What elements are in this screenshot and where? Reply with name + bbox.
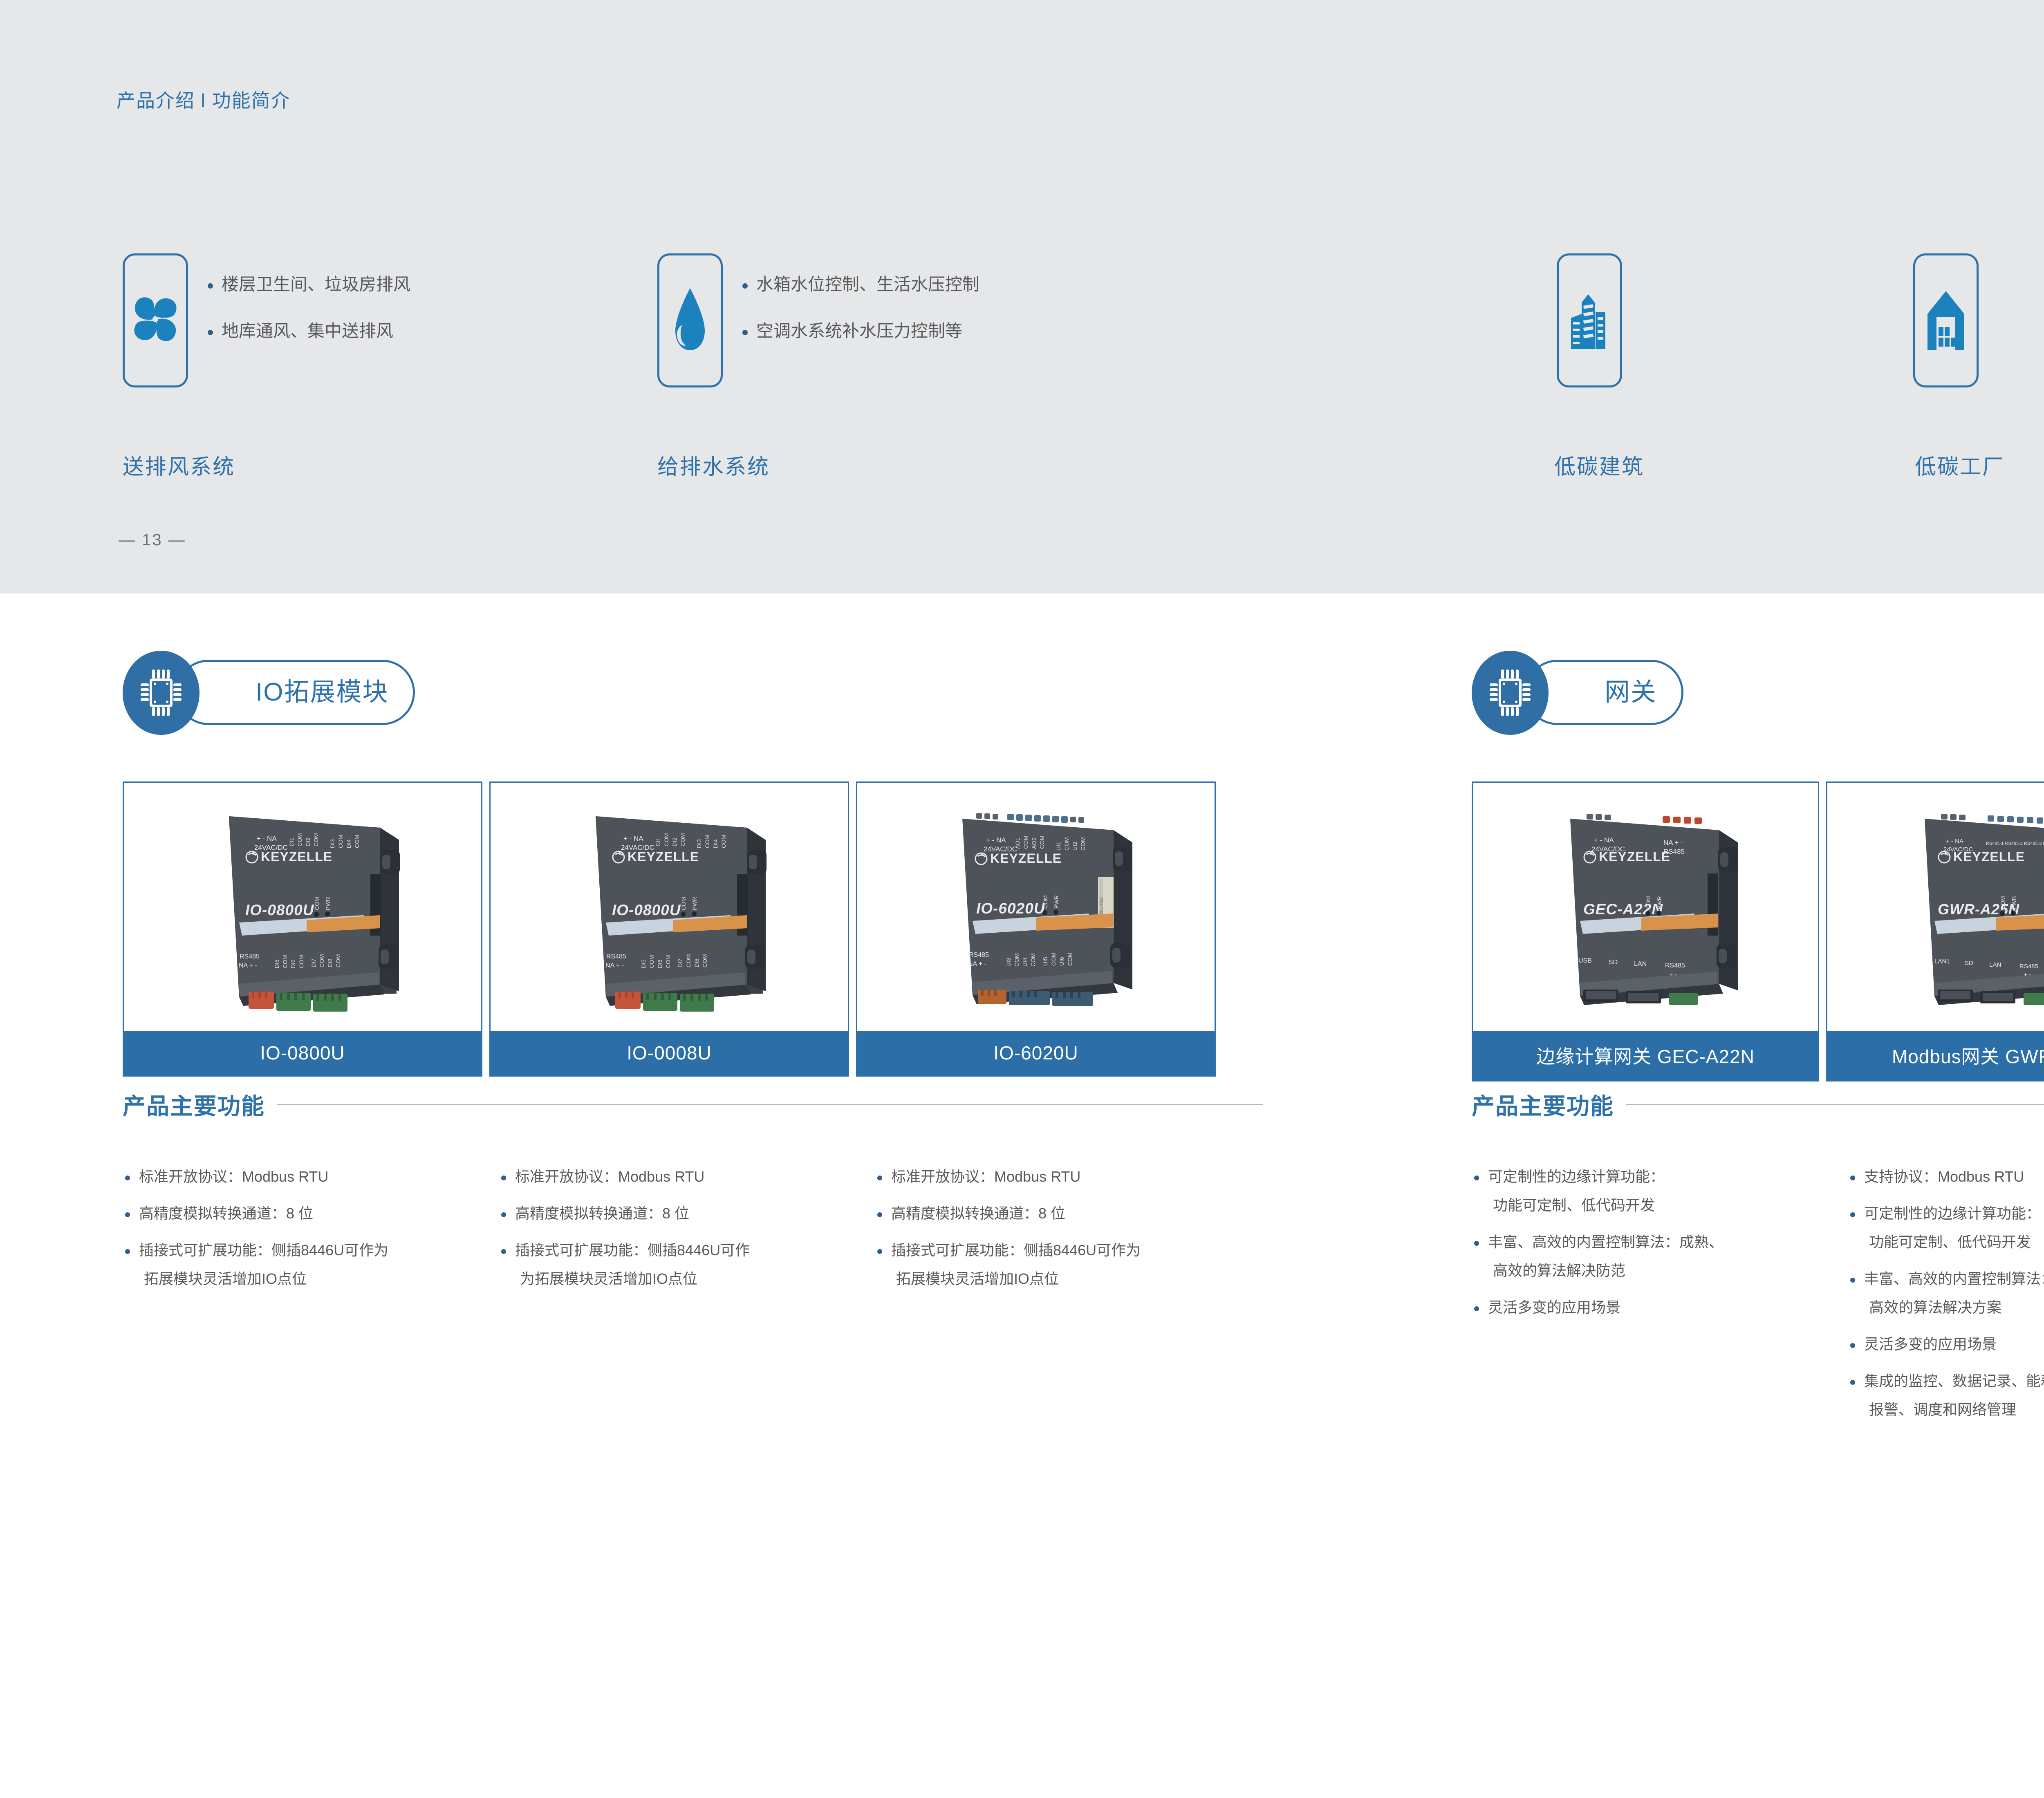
- svg-text:RS485: RS485: [1665, 962, 1685, 969]
- svg-text:DI7: DI7: [310, 958, 317, 967]
- water-bullet-list: 水箱水位控制、生活水压控制 空调水系统补水压力控制等: [739, 276, 979, 369]
- list-item: 丰富、高效的内置控制算法：成熟、高效的算法解决防范: [1472, 1235, 1848, 1278]
- svg-text:DI1: DI1: [288, 837, 295, 846]
- svg-text:DI5: DI5: [640, 959, 647, 968]
- svg-text:COM: COM: [685, 954, 692, 967]
- svg-text:DI6: DI6: [290, 959, 296, 968]
- svg-text:NA + -: NA + -: [239, 962, 257, 969]
- svg-text:COM: COM: [1063, 837, 1070, 851]
- product-image: IO-0800U + - NA 24VAC/DC DI1 COM DI2 CO: [491, 783, 848, 1031]
- application-row: 楼层卫生间、垃圾房排风 地库通风、集中送排风 送排风系统 水箱水位控制、生活水压…: [0, 253, 2044, 507]
- svg-text:RS485: RS485: [240, 953, 260, 960]
- svg-text:+ - NA: + - NA: [623, 835, 643, 842]
- svg-text:KEYZELLE: KEYZELLE: [628, 849, 699, 864]
- list-item: 支持协议：Modbus RTU: [1848, 1169, 2044, 1184]
- list-item: 高精度模拟转换通道：8 位: [875, 1206, 1243, 1221]
- svg-text:IO-0800U: IO-0800U: [245, 902, 314, 918]
- chip-icon: [1487, 666, 1533, 719]
- svg-text:COM: COM: [1067, 952, 1073, 966]
- svg-text:RS485: RS485: [2019, 963, 2038, 970]
- list-item: 插接式可扩展功能：侧插8446U可作为拓展模块灵活增加IO点位: [123, 1243, 499, 1286]
- features-block-io: 产品主要功能 标准开放协议：Modbus RTU 高精度模拟转换通道：8 位 插…: [123, 1088, 1263, 1308]
- svg-text:RS485-1 RS485-2 RS485-3 RS4: RS485-1 RS485-2 RS485-3 RS485-4: [1986, 841, 2044, 846]
- list-item: 楼层卫生间、垃圾房排风: [204, 276, 410, 293]
- svg-text:KEYZELLE: KEYZELLE: [261, 849, 332, 864]
- product-card[interactable]: IO-0800U + - NA 24VAC/DC DI1 COM DI2 CO: [123, 781, 482, 1077]
- svg-text:PWR: PWR: [1053, 895, 1060, 909]
- svg-text:UI2: UI2: [1071, 842, 1078, 851]
- svg-text:COM: COM: [720, 835, 727, 848]
- application-label-building: 低碳建筑: [1554, 450, 1644, 480]
- features-title: 产品主要功能: [123, 1088, 265, 1121]
- device-photo-gec-a22n: GEC-A22N + - NA 24VAC/DC NA + - RS485 US…: [1498, 793, 1793, 1021]
- svg-text:DI4: DI4: [345, 839, 352, 848]
- list-item: 地库通风、集中送排风: [204, 322, 410, 340]
- section-title-gateway: 网关: [1527, 680, 1681, 705]
- building-icon-card: [1557, 253, 1622, 387]
- svg-text:COM: COM: [282, 955, 288, 968]
- svg-text:PWR: PWR: [691, 897, 698, 910]
- list-item: 水箱水位控制、生活水压控制: [739, 276, 979, 293]
- list-item: 可定制性的边缘计算功能：功能可定制、低代码开发: [1472, 1169, 1848, 1213]
- svg-text:COM: COM: [354, 835, 360, 848]
- list-item: 标准开放协议：Modbus RTU: [875, 1169, 1243, 1184]
- svg-text:COM: COM: [318, 954, 325, 967]
- svg-text:RS485: RS485: [969, 952, 989, 958]
- application-label-water: 给排水系统: [657, 450, 770, 480]
- product-image: IO-0800U + - NA 24VAC/DC DI1 COM DI2 CO: [124, 783, 481, 1031]
- application-item-factory: 低碳工厂: [1913, 253, 1979, 387]
- product-caption: IO-6020U: [857, 1031, 1215, 1075]
- svg-text:COM: COM: [1022, 835, 1029, 849]
- features-column: 标准开放协议：Modbus RTU 高精度模拟转换通道：8 位 插接式可扩展功能…: [123, 1169, 499, 1308]
- page-number-left: — 13 —: [119, 531, 186, 549]
- product-card[interactable]: IO-0800U + - NA 24VAC/DC DI1 COM DI2 CO: [489, 781, 849, 1077]
- product-image: GWR-A25N + - NA 24VAC/DC RS485-1 RS485-2…: [1827, 783, 2044, 1031]
- svg-text:AO1: AO1: [1014, 837, 1021, 849]
- svg-text:COM: COM: [298, 955, 305, 968]
- svg-text:+ - NA: + - NA: [1594, 836, 1614, 844]
- svg-text:GWR-A25N: GWR-A25N: [1938, 901, 2019, 918]
- svg-text:+ - NA: + - NA: [986, 836, 1006, 844]
- svg-text:DI3: DI3: [329, 839, 336, 848]
- svg-text:SD: SD: [1609, 959, 1618, 966]
- chip-icon-badge: [123, 651, 199, 735]
- features-title: 产品主要功能: [1472, 1088, 1614, 1121]
- svg-text:+ -: + -: [1669, 971, 1677, 978]
- running-head-left: 产品介绍 l 功能简介: [117, 86, 291, 113]
- svg-text:NA + -: NA + -: [605, 962, 624, 969]
- svg-text:COM: COM: [704, 835, 710, 848]
- svg-text:COM: COM: [1030, 953, 1036, 967]
- device-photo-io-0008u: IO-0800U + - NA 24VAC/DC DI1 COM DI2 CO: [518, 793, 820, 1021]
- svg-text:COM: COM: [1999, 896, 2006, 909]
- svg-text:COM: COM: [680, 897, 687, 910]
- svg-text:DI8: DI8: [327, 958, 333, 967]
- application-item-water: 水箱水位控制、生活水压控制 空调水系统补水压力控制等 给排水系统: [657, 253, 723, 387]
- device-photo-io-0800u: IO-0800U + - NA 24VAC/DC DI1 COM DI2 CO: [151, 793, 454, 1021]
- svg-text:COM: COM: [1039, 835, 1045, 849]
- list-item: 标准开放协议：Modbus RTU: [123, 1169, 499, 1184]
- product-caption: IO-0800U: [124, 1031, 481, 1075]
- features-columns: 可定制性的边缘计算功能：功能可定制、低代码开发 丰富、高效的内置控制算法：成熟、…: [1472, 1169, 2044, 1439]
- svg-text:+ -: + -: [2024, 971, 2031, 978]
- svg-text:NA + -: NA + -: [968, 961, 986, 967]
- product-caption: Modbus网关 GWR-A25N: [1827, 1031, 2044, 1080]
- list-item: 可定制性的边缘计算功能：功能可定制、低代码开发: [1848, 1206, 2044, 1249]
- svg-text:COM: COM: [1050, 952, 1057, 966]
- svg-text:PWR: PWR: [325, 897, 331, 910]
- svg-text:COM: COM: [665, 955, 671, 968]
- svg-text:+ - NA: + - NA: [1946, 838, 1963, 845]
- svg-text:KEYZELLE: KEYZELLE: [1953, 849, 2025, 864]
- fan-bullet-list: 楼层卫生间、垃圾房排风 地库通风、集中送排风: [204, 276, 410, 369]
- list-item: 灵活多变的应用场景: [1848, 1337, 2044, 1352]
- svg-text:DI4: DI4: [712, 839, 719, 848]
- svg-text:+ - NA: + - NA: [257, 835, 277, 842]
- features-header: 产品主要功能: [123, 1088, 1263, 1121]
- water-icon-card: [657, 253, 723, 387]
- svg-text:UI4: UI4: [1022, 958, 1028, 967]
- application-item-fan: 楼层卫生间、垃圾房排风 地库通风、集中送排风 送排风系统: [123, 253, 188, 387]
- features-rule: [1626, 1104, 2044, 1105]
- svg-text:LAN1: LAN1: [1934, 958, 1950, 965]
- application-label-factory: 低碳工厂: [1915, 450, 2005, 480]
- svg-text:RS485: RS485: [606, 953, 626, 960]
- svg-text:IO-6020U: IO-6020U: [976, 900, 1045, 917]
- svg-text:DI2: DI2: [305, 837, 311, 846]
- svg-text:LAN: LAN: [1634, 961, 1647, 967]
- list-item: 标准开放协议：Modbus RTU: [499, 1169, 875, 1184]
- svg-text:DI7: DI7: [677, 958, 684, 967]
- svg-text:DI5: DI5: [273, 959, 280, 968]
- svg-text:COM: COM: [1645, 896, 1652, 909]
- svg-text:COM: COM: [296, 833, 303, 846]
- svg-text:KEYZELLE: KEYZELLE: [990, 851, 1062, 866]
- list-item: 插接式可扩展功能：侧插8446U可作为拓展模块灵活增加IO点位: [875, 1243, 1243, 1286]
- features-column: 支持协议：Modbus RTU 可定制性的边缘计算功能：功能可定制、低代码开发 …: [1848, 1169, 2044, 1439]
- features-block-gateway: 产品主要功能 可定制性的边缘计算功能：功能可定制、低代码开发 丰富、高效的内置控…: [1472, 1088, 2044, 1439]
- section-title-pill-gateway: 网关: [1525, 660, 1683, 725]
- svg-text:DI6: DI6: [657, 959, 663, 968]
- brochure-page: 产品介绍 l 功能简介 产品介绍 l 功能简介 楼层卫生间、垃圾房排风 地库: [0, 0, 2044, 1798]
- svg-text:COM: COM: [313, 833, 319, 846]
- svg-text:DI1: DI1: [655, 837, 661, 846]
- features-columns: 标准开放协议：Modbus RTU 高精度模拟转换通道：8 位 插接式可扩展功能…: [123, 1169, 1263, 1308]
- svg-text:KEYZELLE: KEYZELLE: [1599, 849, 1670, 864]
- features-rule: [277, 1104, 1263, 1105]
- device-photo-gwr-a25n: GWR-A25N + - NA 24VAC/DC RS485-1 RS485-2…: [1853, 793, 2044, 1021]
- application-label-fan: 送排风系统: [123, 450, 235, 480]
- svg-text:UI5: UI5: [1042, 957, 1049, 966]
- factory-icon-card: [1913, 253, 1979, 387]
- fan-icon: [131, 290, 180, 351]
- svg-text:UI6: UI6: [1058, 957, 1065, 966]
- swoosh-icon: [0, 1741, 491, 1798]
- chip-icon-badge: [1472, 651, 1549, 735]
- features-column: 标准开放协议：Modbus RTU 高精度模拟转换通道：8 位 插接式可扩展功能…: [875, 1169, 1243, 1308]
- product-card[interactable]: GWR-A25N + - NA 24VAC/DC RS485-1 RS485-2…: [1826, 781, 2044, 1081]
- fan-icon-card: [123, 253, 188, 387]
- product-image: GEC-A22N + - NA 24VAC/DC NA + - RS485 US…: [1473, 783, 1818, 1031]
- svg-text:COM: COM: [648, 955, 655, 968]
- svg-text:UI3: UI3: [1005, 958, 1012, 967]
- svg-text:COM: COM: [679, 833, 686, 846]
- svg-text:COM: COM: [663, 833, 670, 846]
- svg-text:DI2: DI2: [671, 837, 678, 846]
- section-title-pill-io: IO拓展模块: [176, 660, 415, 725]
- svg-text:USB: USB: [1578, 957, 1592, 964]
- list-item: 丰富、高效的内置控制算法：成熟、高效的算法解决方案: [1848, 1272, 2044, 1315]
- svg-text:AO2: AO2: [1031, 837, 1037, 849]
- section-title-io: IO拓展模块: [178, 680, 413, 705]
- list-item: 灵活多变的应用场景: [1472, 1300, 1848, 1315]
- svg-text:LAN: LAN: [1989, 961, 2001, 968]
- features-column: 标准开放协议：Modbus RTU 高精度模拟转换通道：8 位 插接式可扩展功能…: [499, 1169, 875, 1308]
- svg-text:UI1: UI1: [1055, 842, 1062, 851]
- svg-text:NA + -: NA + -: [1663, 839, 1683, 846]
- product-caption: IO-0008U: [491, 1031, 848, 1075]
- product-card-list-gateway: GEC-A22N + - NA 24VAC/DC NA + - RS485 US…: [1472, 781, 2044, 1081]
- svg-text:SD: SD: [1965, 960, 1973, 967]
- product-card[interactable]: IO-6020U-002 IO-6020U + - NA 24VAC/DC AO…: [856, 781, 1216, 1077]
- list-item: 集成的监控、数据记录、能耗计量、报警、调度和网络管理: [1848, 1374, 2044, 1417]
- svg-text:COM: COM: [314, 897, 320, 910]
- svg-text:COM: COM: [337, 835, 344, 848]
- corner-swoosh-decoration: [0, 1741, 491, 1798]
- factory-icon: [1923, 288, 1968, 353]
- product-card-list-io: IO-0800U + - NA 24VAC/DC DI1 COM DI2 CO: [123, 781, 1216, 1077]
- svg-text:COM: COM: [702, 954, 708, 967]
- svg-text:PWR: PWR: [2010, 896, 2017, 909]
- product-image: IO-6020U-002 IO-6020U + - NA 24VAC/DC AO…: [857, 783, 1215, 1031]
- application-item-building: 低碳建筑: [1557, 253, 1622, 387]
- chip-icon: [138, 666, 184, 719]
- list-item: 高精度模拟转换通道：8 位: [499, 1206, 875, 1221]
- svg-text:DI3: DI3: [696, 839, 702, 848]
- svg-text:COM: COM: [1080, 837, 1086, 851]
- device-photo-io-6020u: IO-6020U-002 IO-6020U + - NA 24VAC/DC AO…: [885, 793, 1187, 1021]
- lower-content: IO拓展模块: [0, 593, 2044, 1798]
- product-card[interactable]: GEC-A22N + - NA 24VAC/DC NA + - RS485 US…: [1472, 781, 1819, 1081]
- office-building-icon: [1565, 288, 1614, 353]
- svg-text:COM: COM: [1013, 953, 1020, 967]
- list-item: 高精度模拟转换通道：8 位: [123, 1206, 499, 1221]
- list-item: 空调水系统补水压力控制等: [739, 322, 979, 340]
- list-item: 插接式可扩展功能：侧插8446U可作为拓展模块灵活增加IO点位: [499, 1243, 875, 1286]
- svg-text:DI8: DI8: [693, 958, 700, 967]
- svg-text:PWR: PWR: [1656, 896, 1663, 909]
- svg-text:COM: COM: [1042, 895, 1049, 909]
- features-header: 产品主要功能: [1472, 1088, 2044, 1121]
- features-column: 可定制性的边缘计算功能：功能可定制、低代码开发 丰富、高效的内置控制算法：成熟、…: [1472, 1169, 1848, 1439]
- svg-text:IO-0800U: IO-0800U: [612, 902, 681, 918]
- product-caption: 边缘计算网关 GEC-A22N: [1473, 1031, 1818, 1080]
- water-drop-icon: [670, 286, 710, 355]
- svg-text:COM: COM: [335, 954, 341, 967]
